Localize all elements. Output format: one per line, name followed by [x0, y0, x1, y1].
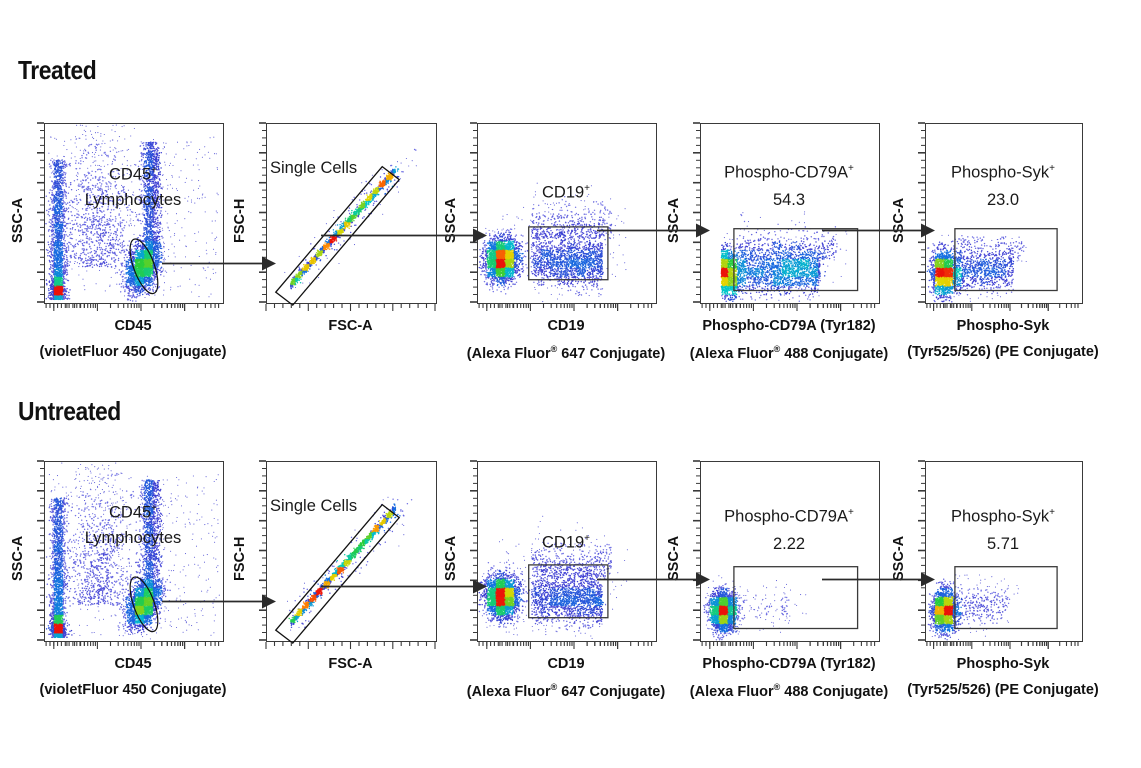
gate-label-text: Single Cells: [270, 159, 357, 177]
gating-arrow-1: [162, 255, 276, 272]
gate-label-line2: Lymphocytes: [18, 191, 248, 210]
x-axis-sublabel: (Tyr525/526) (PE Conjugate): [885, 344, 1121, 360]
scatter-plot[interactable]: [925, 123, 1083, 304]
gate-label: CD19+: [451, 533, 681, 553]
scatter-plot[interactable]: [477, 123, 657, 304]
gate-label: CD45+: [18, 165, 248, 185]
x-axis-sublabel: (Alexa Fluor® 647 Conjugate): [437, 344, 695, 362]
gate-label: Phospho-Syk+: [899, 507, 1107, 527]
gate-label: CD45+: [18, 503, 248, 523]
gate-percentage: 5.71: [899, 535, 1107, 554]
x-axis-label: Phospho-Syk: [897, 318, 1109, 334]
x-axis-label: CD19: [449, 318, 683, 334]
scatter-plot[interactable]: [266, 123, 437, 304]
gate-label: Phospho-CD79A+: [674, 163, 904, 183]
scatter-plot[interactable]: [266, 461, 437, 642]
x-axis-ticks: [266, 304, 435, 313]
x-axis-ticks: [700, 642, 878, 651]
gating-arrow-3: [597, 571, 710, 588]
gating-arrow-3: [597, 222, 710, 239]
scatter-plot[interactable]: [44, 123, 224, 304]
y-axis-label: FSC-H: [232, 521, 248, 581]
x-axis-sublabel: (Tyr525/526) (PE Conjugate): [885, 682, 1121, 698]
x-axis-label: FSC-A: [238, 318, 463, 334]
x-axis-sublabel: (Alexa Fluor® 488 Conjugate): [660, 682, 918, 700]
row-title: Treated: [18, 55, 96, 86]
gate-label-text: Phospho-CD79A: [724, 508, 848, 526]
gate-label-text: CD45: [109, 504, 151, 522]
x-axis-sublabel: (Alexa Fluor® 647 Conjugate): [437, 682, 695, 700]
x-axis-ticks: [477, 304, 655, 313]
x-axis-label: Phospho-Syk: [897, 656, 1109, 672]
x-axis-sublabel: (Alexa Fluor® 488 Conjugate): [660, 344, 918, 362]
gate-label: Single Cells: [270, 497, 439, 516]
gating-arrow-2: [321, 227, 487, 244]
row-title: Untreated: [18, 396, 121, 427]
x-axis-sublabel: (violetFluor 450 Conjugate): [4, 682, 262, 698]
x-axis-ticks: [925, 642, 1081, 651]
scatter-plot[interactable]: [44, 461, 224, 642]
x-axis-sublabel: (violetFluor 450 Conjugate): [4, 344, 262, 360]
y-axis-label: FSC-H: [232, 183, 248, 243]
gate-label: CD19+: [451, 183, 681, 203]
gating-arrow-4: [822, 222, 935, 239]
x-axis-ticks: [266, 642, 435, 651]
gate-label: Single Cells: [270, 159, 439, 178]
gate-percentage: 23.0: [899, 191, 1107, 210]
x-axis-ticks: [44, 304, 222, 313]
gate-label-text: CD19: [542, 534, 584, 552]
gate-label-text: Phospho-CD79A: [724, 164, 848, 182]
gate-label: Phospho-CD79A+: [674, 507, 904, 527]
gate-label-line2: Lymphocytes: [18, 529, 248, 548]
x-axis-ticks: [44, 642, 222, 651]
x-axis-ticks: [700, 304, 878, 313]
x-axis-label: CD19: [449, 656, 683, 672]
gate-label-text: Phospho-Syk: [951, 508, 1049, 526]
x-axis-ticks: [477, 642, 655, 651]
x-axis-label: Phospho-CD79A (Tyr182): [672, 318, 906, 334]
x-axis-label: CD45: [16, 656, 250, 672]
gating-arrow-4: [822, 571, 935, 588]
scatter-plot[interactable]: [700, 123, 880, 304]
x-axis-label: Phospho-CD79A (Tyr182): [672, 656, 906, 672]
gate-label-text: CD19: [542, 184, 584, 202]
gate-label-text: Single Cells: [270, 497, 357, 515]
gate-label-text: Phospho-Syk: [951, 164, 1049, 182]
x-axis-ticks: [925, 304, 1081, 313]
gating-arrow-1: [162, 593, 276, 610]
x-axis-label: FSC-A: [238, 656, 463, 672]
gate-label-text: CD45: [109, 166, 151, 184]
x-axis-label: CD45: [16, 318, 250, 334]
gate-percentage: 54.3: [674, 191, 904, 210]
gate-label: Phospho-Syk+: [899, 163, 1107, 183]
gating-arrow-2: [321, 578, 487, 595]
gate-percentage: 2.22: [674, 535, 904, 554]
